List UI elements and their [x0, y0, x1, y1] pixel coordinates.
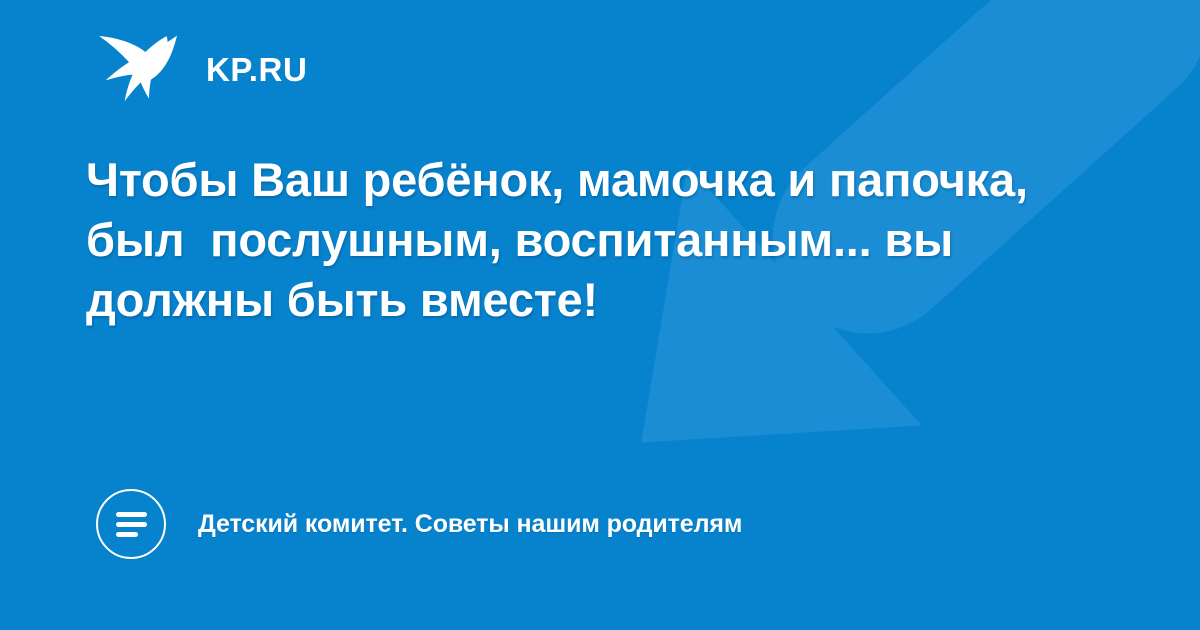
- rubric-row[interactable]: Детский комитет. Советы нашим родителям: [96, 489, 742, 559]
- hamburger-menu-icon[interactable]: [96, 489, 166, 559]
- menu-bar-bottom: [116, 532, 138, 537]
- menu-bar-top: [116, 512, 147, 517]
- brand-logo[interactable]: KP.RU: [96, 33, 307, 105]
- page-title: Чтобы Ваш ребёнок, мамочка и папочка, бы…: [86, 150, 1126, 330]
- rubric-label: Детский комитет. Советы нашим родителям: [198, 509, 742, 539]
- swallow-bird-icon: [96, 33, 184, 105]
- menu-bar-middle: [116, 522, 147, 527]
- social-share-card: KP.RU Чтобы Ваш ребёнок, мамочка и папоч…: [0, 0, 1200, 630]
- brand-name: KP.RU: [206, 53, 307, 86]
